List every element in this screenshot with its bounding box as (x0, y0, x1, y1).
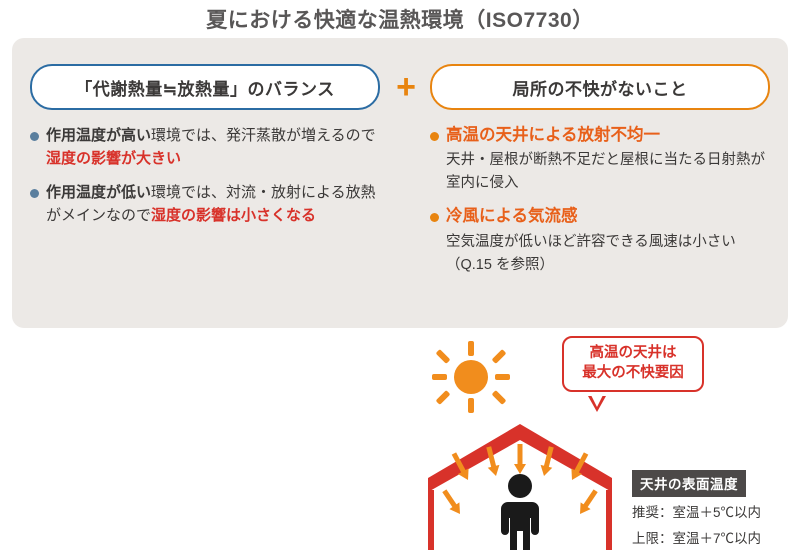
temp-note-header: 天井の表面温度 (632, 470, 746, 497)
seg-normal: が増えるので (286, 127, 376, 144)
heading-balance: 「代謝熱量≒放熱量」のバランス (30, 64, 380, 110)
sun-icon (454, 360, 488, 394)
list-item-heading: 高温の天井による放射不均一 (446, 124, 776, 147)
page-title: 夏における快適な温熱環境（ISO7730） (0, 4, 800, 34)
info-panel: 「代謝熱量≒放熱量」のバランス + 局所の不快がないこと 作用温度が高い環境では… (12, 38, 788, 328)
callout-box: 高温の天井は 最大の不快要因 (562, 336, 704, 392)
temp-note-line: 上限：室温＋7℃以内 (632, 529, 800, 549)
seg-red: 影響は小さくなる (196, 207, 316, 224)
seg-normal: 環境では、発汗蒸散 (151, 127, 286, 144)
callout-line-2: 最大の不快要因 (566, 364, 700, 384)
sun-ray-icon (492, 390, 507, 405)
sun-ray-icon (468, 341, 474, 356)
bullet-dot-icon (430, 132, 439, 141)
list-item: 冷風による気流感 空気温度が低いほど許容できる風速は小さい（Q.15 を参照） (426, 205, 776, 276)
list-item-text: 作用温度が高い環境では、発汗蒸散が増えるので湿度の影響が大きい (46, 124, 386, 171)
bullet-dot-icon (30, 132, 39, 141)
list-item-body: 天井・屋根が断熱不足だと屋根に当たる日射熱が室内に侵入 (446, 149, 776, 195)
list-item: 高温の天井による放射不均一 天井・屋根が断熱不足だと屋根に当たる日射熱が室内に侵… (426, 124, 776, 195)
list-item-body: 空気温度が低いほど許容できる風速は小さい（Q.15 を参照） (446, 231, 776, 277)
person-icon (501, 474, 539, 550)
seg-red: 湿度の影響が大きい (46, 150, 181, 167)
plus-sign: + (390, 70, 422, 104)
list-item: 作用温度が低い環境では、対流・放射による放熱がメインなので湿度の影響は小さくなる (26, 181, 386, 228)
bullet-dot-icon (30, 189, 39, 198)
callout-line-1: 高温の天井は (566, 344, 700, 364)
sun-ray-icon (468, 398, 474, 413)
seg-strong: 作用温度が高い (46, 127, 151, 144)
sun-ray-icon (492, 349, 507, 364)
illustration: 高温の天井は 最大の不快要因 (420, 330, 800, 557)
left-column: 作用温度が高い環境では、発汗蒸散が増えるので湿度の影響が大きい 作用温度が低い環… (26, 124, 386, 237)
heading-local-discomfort: 局所の不快がないこと (430, 64, 770, 110)
seg-red: 湿度の (151, 207, 196, 224)
right-column: 高温の天井による放射不均一 天井・屋根が断熱不足だと屋根に当たる日射熱が室内に侵… (426, 124, 776, 287)
bullet-dot-icon (430, 213, 439, 222)
seg-normal: 環境では、対流・放 (151, 184, 286, 201)
wall-left (428, 490, 434, 550)
list-item: 作用温度が高い環境では、発汗蒸散が増えるので湿度の影響が大きい (26, 124, 386, 171)
list-item-heading: 冷風による気流感 (446, 205, 776, 228)
sun-ray-icon (436, 349, 451, 364)
sun-ray-icon (432, 374, 447, 380)
wall-right (606, 490, 612, 550)
sun-ray-icon (495, 374, 510, 380)
seg-strong: 作用温度が低い (46, 184, 151, 201)
callout-tail-inner-icon (591, 395, 603, 407)
ceiling-temp-note: 天井の表面温度 推奨：室温＋5℃以内 上限：室温＋7℃以内 (632, 470, 800, 548)
sun-ray-icon (436, 390, 451, 405)
temp-note-line: 推奨：室温＋5℃以内 (632, 503, 800, 523)
list-item-text: 作用温度が低い環境では、対流・放射による放熱がメインなので湿度の影響は小さくなる (46, 181, 386, 228)
